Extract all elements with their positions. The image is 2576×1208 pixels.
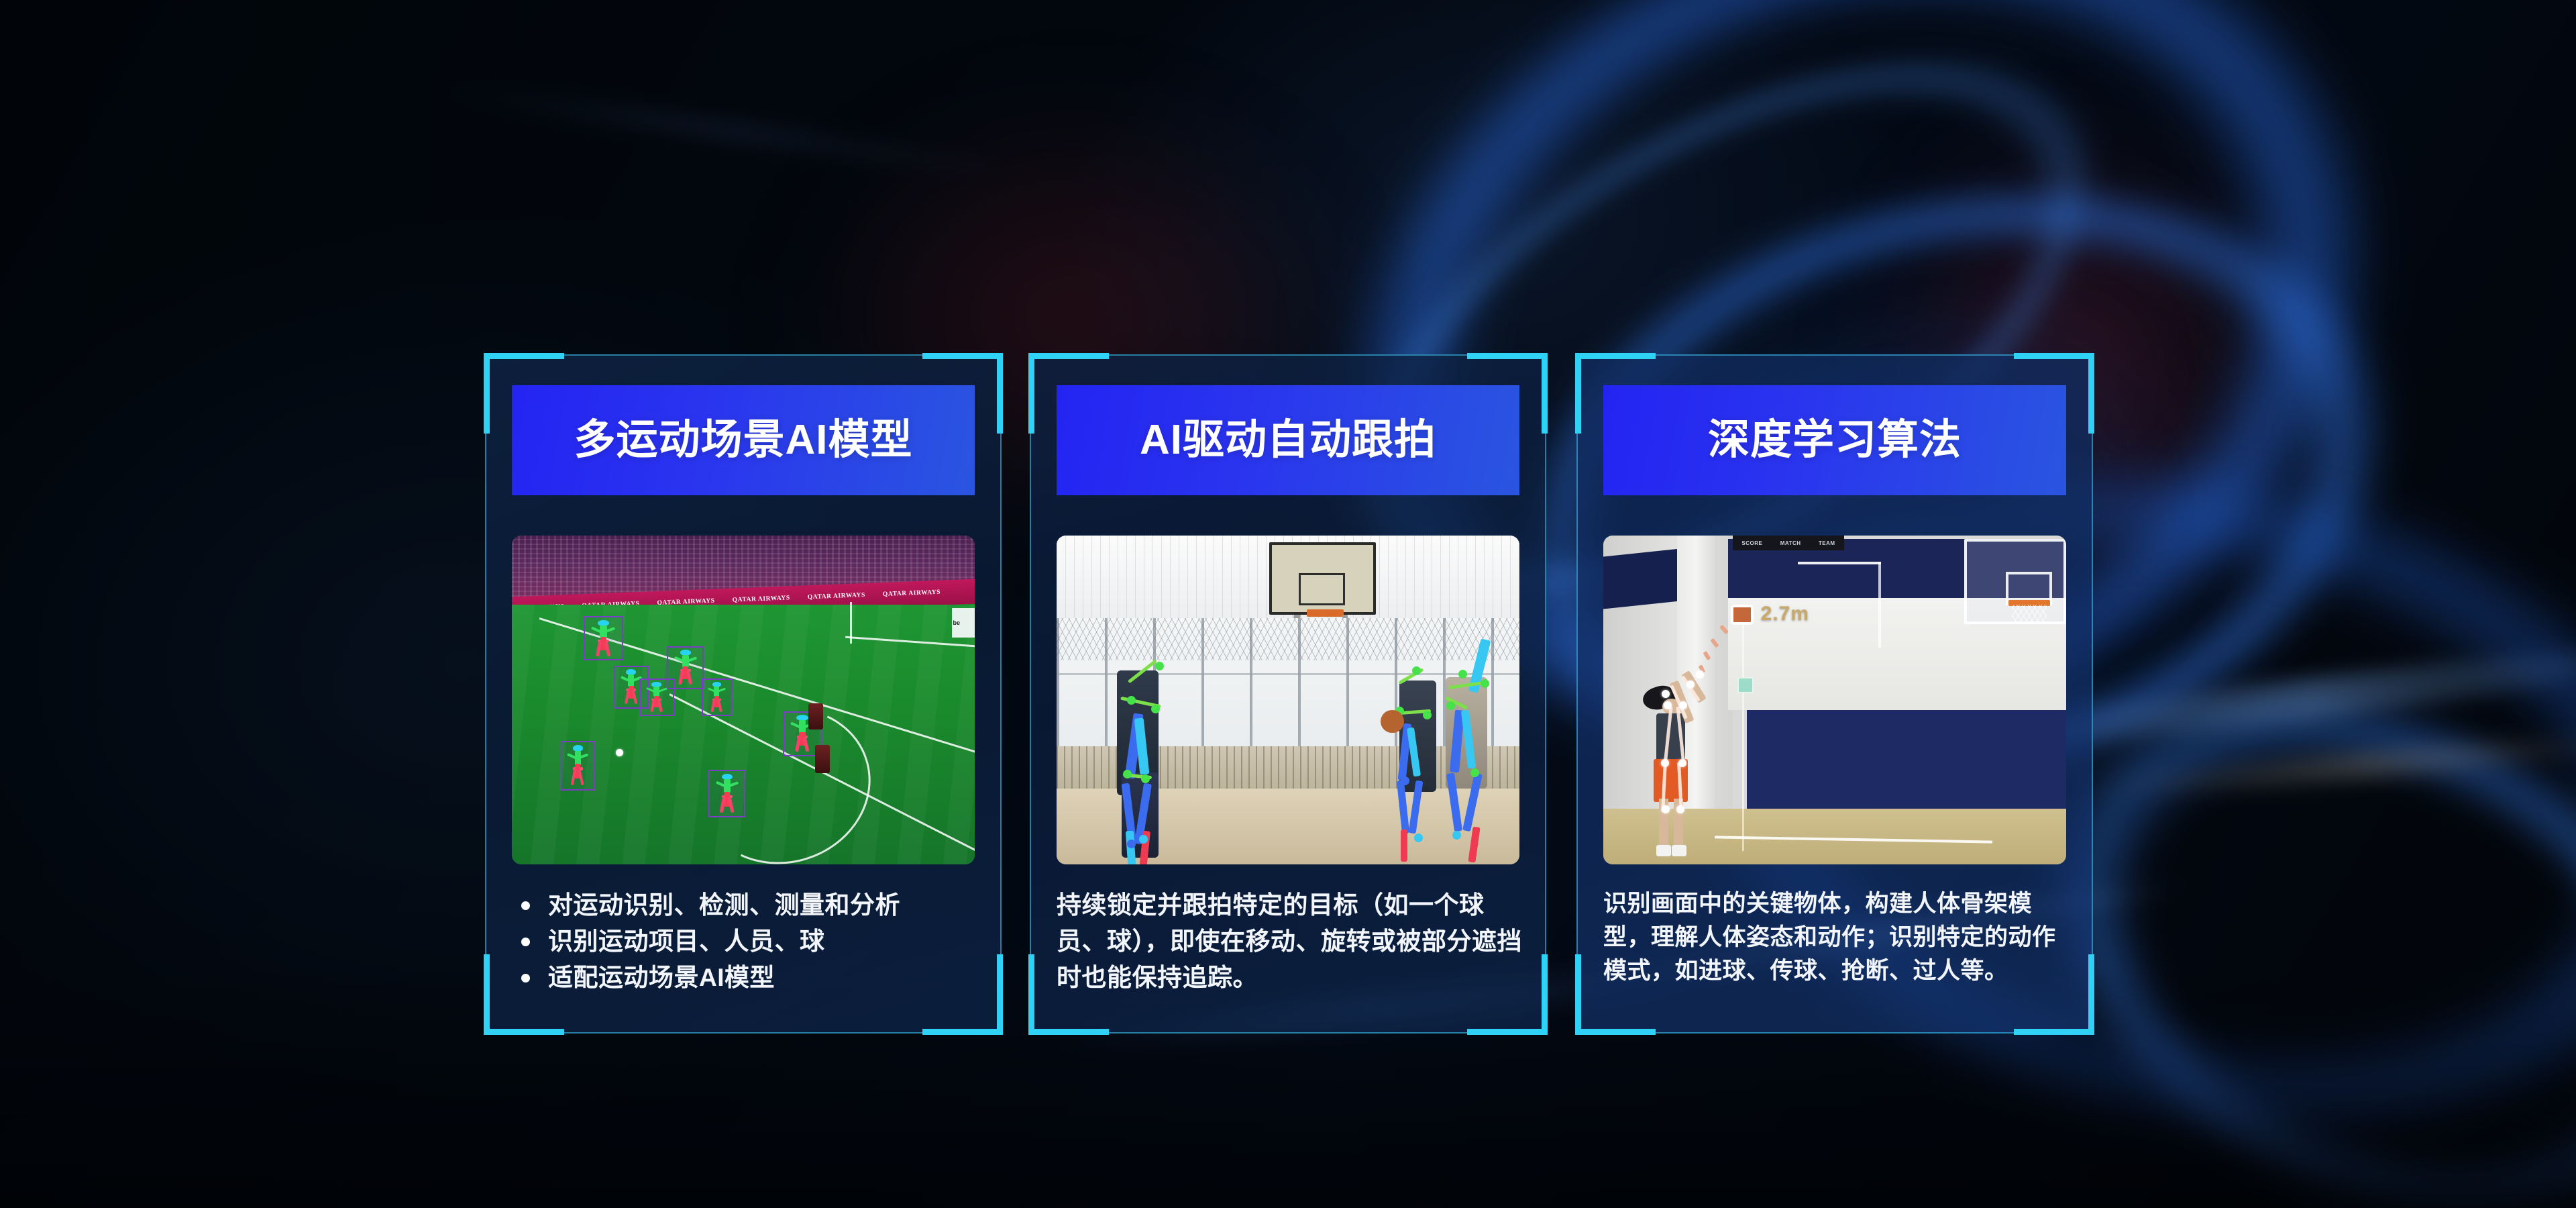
card-body: 识别画面中的关键物体，构建人体骨架模型，理解人体姿态和动作；识别特定的动作模式，… xyxy=(1603,887,2073,988)
detection-box xyxy=(560,741,595,791)
player-shoe xyxy=(1656,845,1671,857)
ball-tracking-box xyxy=(1731,605,1754,625)
corner-bracket-top-left-vertical xyxy=(484,353,490,434)
card-description: 持续锁定并跟拍特定的目标（如一个球员、球），即使在移动、旋转或被部分遮挡时也能保… xyxy=(1057,887,1526,996)
card-header-bar: AI驱动自动跟拍 xyxy=(1057,385,1519,495)
player-shoe xyxy=(1672,845,1686,857)
pitch-line xyxy=(845,636,975,648)
corner-bracket-bottom-left-vertical xyxy=(1028,954,1034,1035)
pose-skeleton xyxy=(672,650,698,685)
measurement-line-horizontal xyxy=(1798,562,1881,564)
pose-skeleton xyxy=(566,745,590,786)
distance-label: 2.7m xyxy=(1761,603,1809,625)
banner-text: QATAR AIRWAYS xyxy=(733,595,791,604)
corner-bracket-top-left-horizontal xyxy=(1028,353,1109,359)
corner-bracket-bottom-right-horizontal xyxy=(922,1029,1003,1035)
scoreboard-label: MATCH xyxy=(1780,540,1801,546)
banner-text: QATAR AIRWAYS xyxy=(808,593,866,601)
detection-box xyxy=(708,770,745,818)
pose-skeleton xyxy=(1417,634,1519,858)
hoop-net xyxy=(2012,605,2047,624)
skeleton-keypoint xyxy=(1662,805,1670,813)
corner-bracket-top-right-horizontal xyxy=(1467,353,1548,359)
hoop-rim xyxy=(1307,609,1344,617)
banner-text: QATAR AIRWAYS xyxy=(883,589,941,598)
corner-bracket-top-left-horizontal xyxy=(1575,353,1656,359)
pose-skeleton xyxy=(714,774,740,814)
pose-skeleton xyxy=(1098,644,1200,861)
skeleton-keypoint xyxy=(1696,670,1704,678)
corner-bracket-bottom-left-horizontal xyxy=(1575,1029,1656,1035)
corner-bracket-bottom-left-horizontal xyxy=(1028,1029,1109,1035)
undetected-player xyxy=(808,703,823,729)
card-body: 对运动识别、检测、测量和分析 识别运动项目、人员、球 适配运动场景AI模型 xyxy=(512,887,981,996)
basketball xyxy=(1381,710,1404,733)
detection-box xyxy=(584,616,623,660)
pose-skeleton xyxy=(644,682,668,713)
list-item: 适配运动场景AI模型 xyxy=(512,960,981,996)
corner-bracket-top-left-vertical xyxy=(1028,353,1034,434)
card-title: AI驱动自动跟拍 xyxy=(1140,419,1436,461)
detection-box xyxy=(639,678,674,716)
feature-card-ai-auto-tracking[interactable]: AI驱动自动跟拍 xyxy=(1030,354,1546,1034)
soccer-ball xyxy=(616,749,623,756)
sponsor-board: be xyxy=(952,608,975,638)
feature-card-deep-learning-algorithm[interactable]: 深度学习算法 SCORE MATCH TEAM xyxy=(1576,354,2093,1034)
card-title: 多运动场景AI模型 xyxy=(574,419,912,461)
list-item: 识别运动项目、人员、球 xyxy=(512,923,981,960)
undetected-player xyxy=(815,745,830,774)
corner-bracket-bottom-left-vertical xyxy=(484,954,490,1035)
measurement-line-drop xyxy=(1742,608,1744,852)
card-description: 识别画面中的关键物体，构建人体骨架模型，理解人体姿态和动作；识别特定的动作模式，… xyxy=(1603,887,2073,988)
court-navy-stripe-left xyxy=(1603,548,1686,609)
card-media-basketball-gym-skeleton xyxy=(1057,536,1519,864)
feature-card-multi-sport-ai-model[interactable]: 多运动场景AI模型 QATAR AIRWAYS QATAR AIRWAYS QA… xyxy=(485,354,1002,1034)
corner-bracket-top-left-vertical xyxy=(1575,353,1581,434)
feature-bullet-list: 对运动识别、检测、测量和分析 识别运动项目、人员、球 适配运动场景AI模型 xyxy=(512,887,981,996)
football-pitch xyxy=(512,605,975,864)
scoreboard-label: TEAM xyxy=(1819,540,1835,546)
pose-skeleton xyxy=(589,620,617,656)
corner-bracket-top-left-horizontal xyxy=(484,353,564,359)
skeleton-keypoint xyxy=(1686,681,1695,689)
card-header-bar: 多运动场景AI模型 xyxy=(512,385,975,495)
card-title: 深度学习算法 xyxy=(1708,419,1962,461)
skeleton-keypoint xyxy=(1676,805,1684,813)
list-item: 对运动识别、检测、测量和分析 xyxy=(512,887,981,923)
measurement-line-vertical xyxy=(1878,562,1881,647)
corner-bracket-top-right-horizontal xyxy=(2014,353,2094,359)
backboard xyxy=(1269,542,1376,615)
skeleton-keypoint xyxy=(1661,759,1669,767)
corner-bracket-bottom-left-horizontal xyxy=(484,1029,564,1035)
corner-bracket-top-right-vertical xyxy=(2088,353,2094,434)
corner-bracket-top-right-horizontal xyxy=(922,353,1003,359)
corner-bracket-top-right-vertical xyxy=(997,353,1003,434)
corner-bracket-bottom-right-vertical xyxy=(1542,954,1548,1035)
card-media-basketball-shot-measurement: SCORE MATCH TEAM 2.7m xyxy=(1603,536,2066,864)
corner-bracket-top-right-vertical xyxy=(1542,353,1548,434)
wall-sign xyxy=(1737,677,1753,694)
scoreboard-label: SCORE xyxy=(1741,540,1762,546)
detection-box xyxy=(702,678,732,716)
corner-bracket-bottom-right-vertical xyxy=(997,954,1003,1035)
corner-bracket-bottom-right-horizontal xyxy=(2014,1029,2094,1035)
corner-bracket-bottom-left-vertical xyxy=(1575,954,1581,1035)
skeleton-keypoint xyxy=(1678,759,1686,767)
card-body: 持续锁定并跟拍特定的目标（如一个球员、球），即使在移动、旋转或被部分遮挡时也能保… xyxy=(1057,887,1526,996)
card-media-soccer-pose-detection: QATAR AIRWAYS QATAR AIRWAYS QATAR AIRWAY… xyxy=(512,536,975,864)
corner-bracket-bottom-right-vertical xyxy=(2088,954,2094,1035)
scoreboard: SCORE MATCH TEAM xyxy=(1733,536,1844,550)
court-wall-padding xyxy=(1747,710,2066,809)
card-header-bar: 深度学习算法 xyxy=(1603,385,2066,495)
corner-bracket-bottom-right-horizontal xyxy=(1467,1029,1548,1035)
backboard-square xyxy=(1299,573,1345,605)
pose-skeleton xyxy=(706,682,727,713)
